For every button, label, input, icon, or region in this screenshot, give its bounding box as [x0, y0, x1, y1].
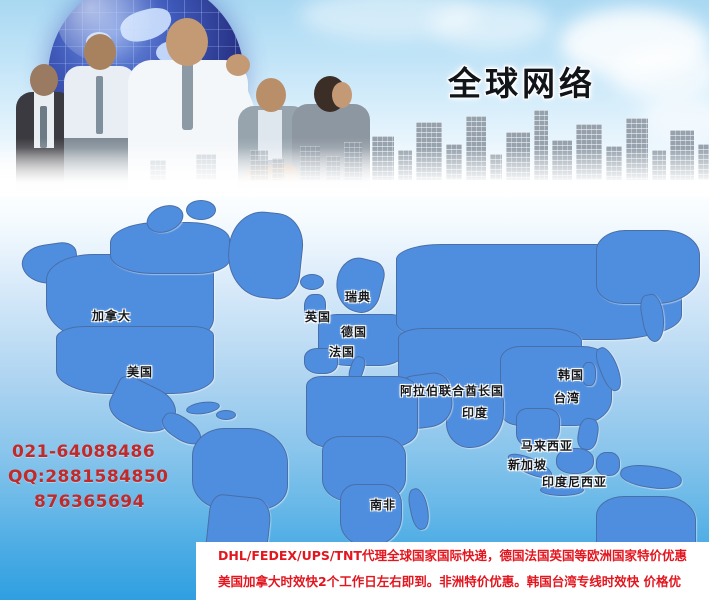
map-label-france: 法国	[329, 343, 355, 360]
landmass-caribbean	[216, 410, 236, 420]
map-label-singapore: 新加坡	[508, 456, 547, 473]
map-label-south-korea: 韩国	[558, 366, 584, 383]
world-map: 加拿大 美国 英国 瑞典 德国 法国 阿拉伯联合酋长国 印度 韩国 台湾 马来西…	[0, 196, 709, 600]
map-label-uae: 阿拉伯联合酋长国	[400, 382, 504, 399]
landmass-arctic-islands	[186, 200, 216, 220]
map-label-uk: 英国	[305, 308, 331, 325]
landmass-new-guinea	[619, 462, 683, 492]
contact-phone: 021-64088486	[8, 440, 188, 465]
promo-line-1: DHL/FEDEX/UPS/TNT代理全球国家国际快递，德国法国英国等欧洲国家特…	[218, 548, 687, 564]
landmass-greenland	[224, 208, 307, 301]
map-label-india: 印度	[462, 404, 488, 421]
skyline-fade-overlay	[0, 148, 709, 196]
map-label-usa: 美国	[127, 363, 153, 380]
city-skyline	[0, 78, 709, 196]
landmass-iceland	[300, 274, 324, 290]
promo-banner: DHL/FEDEX/UPS/TNT代理全球国家国际快递，德国法国英国等欧洲国家特…	[196, 542, 709, 600]
landmass-korea-peninsula	[582, 362, 596, 386]
map-label-south-africa: 南非	[370, 496, 396, 513]
promo-line-2: 美国加拿大时效快2个工作日左右即到。非洲特价优惠。韩国台湾专线时效快 价格优	[218, 574, 681, 590]
map-label-germany: 德国	[341, 323, 367, 340]
map-label-taiwan: 台湾	[554, 389, 580, 406]
landmass-madagascar	[406, 487, 432, 532]
header-banner: 全球网络	[0, 0, 709, 196]
contact-qq-secondary: 876365694	[8, 490, 188, 515]
map-label-indonesia: 印度尼西亚	[542, 473, 607, 490]
contact-info-block: 021-64088486 QQ:2881584850 876365694	[8, 440, 188, 515]
landmass-siberia-east	[596, 230, 700, 304]
landmass-scandinavia	[330, 253, 388, 317]
map-label-malaysia: 马来西亚	[521, 437, 573, 454]
global-network-promo-page: 全球网络	[0, 0, 709, 600]
map-label-canada: 加拿大	[92, 307, 131, 324]
map-label-sweden: 瑞典	[345, 288, 371, 305]
page-title: 全球网络	[448, 57, 596, 105]
contact-qq-primary: QQ:2881584850	[8, 465, 188, 490]
landmass-southern-africa	[340, 484, 402, 546]
